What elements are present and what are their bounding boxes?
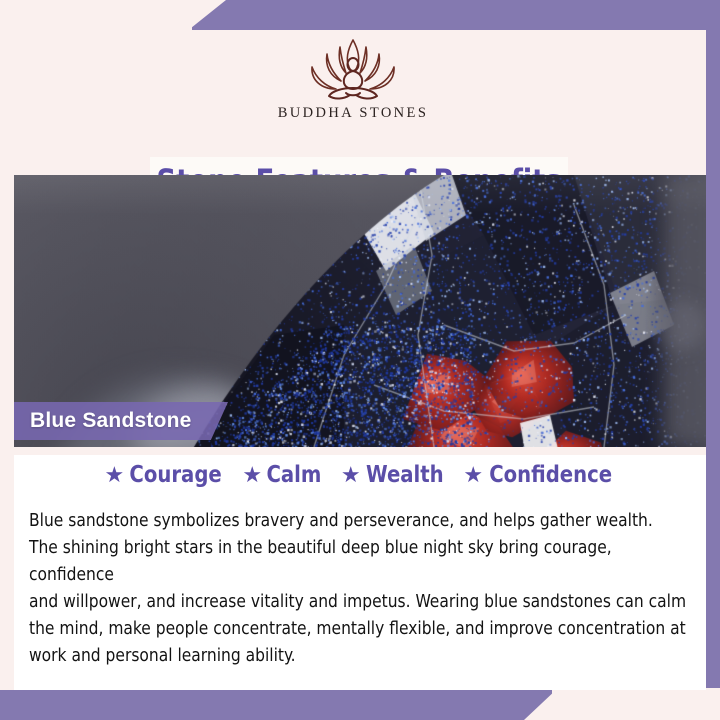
brand-name: BUDDHA STONES	[278, 105, 429, 122]
lotus-meditation-icon	[294, 36, 412, 102]
star-icon: ★	[341, 464, 361, 486]
star-icon: ★	[463, 464, 483, 486]
brand-logo: BUDDHA STONES	[0, 36, 706, 122]
star-icon: ★	[242, 464, 262, 486]
description-text: Blue sandstone symbolizes bravery and pe…	[29, 508, 691, 670]
description-line: work and personal learning ability.	[29, 643, 691, 670]
description-line: and willpower, and increase vitality and…	[29, 589, 691, 616]
benefit-item: ★ Confidence	[463, 462, 615, 488]
infographic-card: BUDDHA STONES Stone Features & Benefits …	[0, 0, 720, 720]
benefit-label: Confidence	[489, 462, 612, 488]
benefit-item: ★ Wealth	[341, 462, 445, 488]
frame-notch-top-left	[0, 0, 192, 30]
stone-photo: Blue Sandstone	[14, 175, 706, 447]
benefit-item: ★ Courage	[105, 462, 225, 488]
frame-diagonal-bottom-right	[524, 688, 558, 720]
benefits-row: ★ Courage ★ Calm ★ Wealth ★ Confidence	[14, 462, 706, 488]
star-icon: ★	[105, 464, 125, 486]
benefit-label: Wealth	[366, 462, 444, 488]
description-line: the mind, make people concentrate, menta…	[29, 616, 691, 643]
card-header: BUDDHA STONES Stone Features & Benefits	[0, 30, 706, 175]
benefit-item: ★ Calm	[242, 462, 323, 488]
benefit-label: Calm	[267, 462, 322, 488]
stone-caption-banner: Blue Sandstone	[14, 402, 228, 440]
stone-name: Blue Sandstone	[30, 409, 192, 433]
frame-diagonal-top-left	[186, 0, 226, 32]
frame-notch-bottom-right	[552, 688, 720, 720]
description-line: The shining bright stars in the beautifu…	[29, 535, 691, 589]
description-line: Blue sandstone symbolizes bravery and pe…	[29, 508, 691, 535]
benefit-label: Courage	[130, 462, 222, 488]
